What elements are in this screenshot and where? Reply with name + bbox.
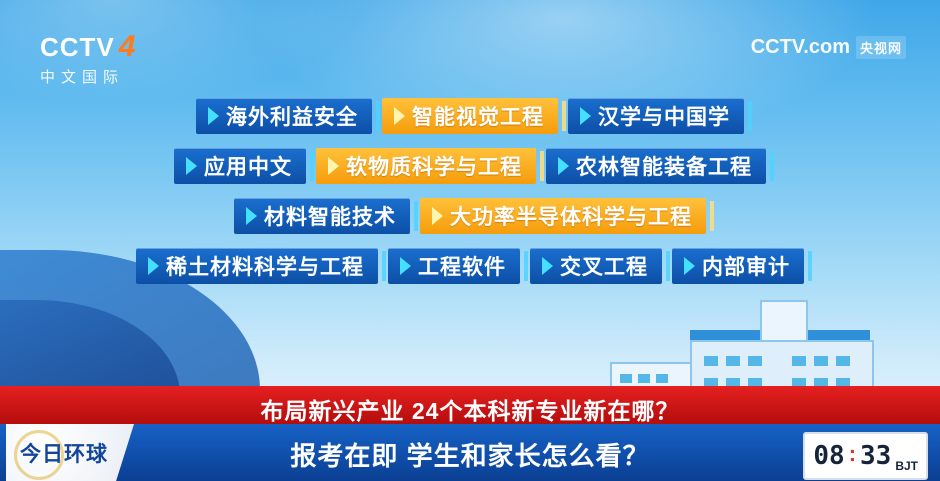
cctv-channel-number: 4	[119, 30, 137, 64]
clock-hours: 08	[813, 441, 844, 471]
major-chip: 内部审计	[672, 248, 804, 284]
headline-bar-top: 布局新兴产业 24个本科新专业新在哪？	[0, 386, 940, 424]
cctv4-logo: CCTV 4 中文国际	[40, 30, 136, 87]
cctv-logo-subtitle: 中文国际	[40, 66, 136, 87]
major-chip: 材料智能技术	[234, 198, 410, 234]
major-chip: 智能视觉工程	[382, 98, 558, 134]
headline-bottom-text: 报考在即 学生和家长怎么看？	[0, 436, 940, 473]
chevron-right-icon	[558, 157, 569, 175]
major-chip: 汉学与中国学	[568, 98, 744, 134]
cctv-com-text: CCTV.com	[751, 36, 850, 59]
chevron-right-icon	[432, 207, 443, 225]
clock-timezone: BJT	[895, 459, 918, 473]
major-chip: 交叉工程	[530, 248, 662, 284]
chevron-right-icon	[580, 107, 591, 125]
major-chip-label: 内部审计	[702, 257, 790, 278]
major-chip-label: 农林智能装备工程	[576, 157, 752, 178]
majors-row: 材料智能技术 大功率半导体科学与工程	[0, 198, 940, 234]
chevron-right-icon	[208, 107, 219, 125]
major-chip-label: 材料智能技术	[264, 207, 396, 228]
chevron-right-icon	[400, 257, 411, 275]
major-chip: 应用中文	[174, 148, 306, 184]
headline-top-text: 布局新兴产业 24个本科新专业新在哪？	[0, 392, 940, 426]
major-chip-label: 软物质科学与工程	[346, 157, 522, 178]
major-chip-label: 汉学与中国学	[598, 107, 730, 128]
chevron-right-icon	[246, 207, 257, 225]
majors-chip-grid: 海外利益安全 智能视觉工程 汉学与中国学 应用中文 软物质科学与工程	[0, 98, 940, 298]
chevron-right-icon	[328, 157, 339, 175]
major-chip-label: 稀土材料科学与工程	[166, 257, 364, 278]
major-chip: 稀土材料科学与工程	[136, 248, 378, 284]
program-badge-label: 今日环球	[20, 438, 108, 468]
cctv-com-chinese: 央视网	[856, 36, 906, 59]
major-chip: 海外利益安全	[196, 98, 372, 134]
broadcast-screenshot: CCTV 4 中文国际 CCTV.com 央视网 海外利益安全 智能视觉工程 汉…	[0, 0, 940, 481]
chevron-right-icon	[394, 107, 405, 125]
majors-row: 应用中文 软物质科学与工程 农林智能装备工程	[0, 148, 940, 184]
major-chip-label: 交叉工程	[560, 257, 648, 278]
major-chip: 工程软件	[388, 248, 520, 284]
major-chip-label: 工程软件	[418, 257, 506, 278]
program-badge: 今日环球	[6, 424, 134, 481]
cctv-logo-text: CCTV	[40, 32, 115, 63]
majors-row: 稀土材料科学与工程 工程软件 交叉工程 内部审计	[0, 248, 940, 284]
clock-minutes: 33	[860, 441, 891, 471]
major-chip: 农林智能装备工程	[546, 148, 766, 184]
major-chip-label: 海外利益安全	[226, 107, 358, 128]
major-chip-label: 大功率半导体科学与工程	[450, 207, 692, 228]
chevron-right-icon	[542, 257, 553, 275]
headline-bar-bottom: 报考在即 学生和家长怎么看？	[0, 424, 940, 481]
major-chip: 软物质科学与工程	[316, 148, 536, 184]
cctv-com-watermark: CCTV.com 央视网	[751, 36, 906, 59]
chevron-right-icon	[148, 257, 159, 275]
major-chip-label: 智能视觉工程	[412, 107, 544, 128]
majors-row: 海外利益安全 智能视觉工程 汉学与中国学	[0, 98, 940, 134]
chevron-right-icon	[186, 157, 197, 175]
chevron-right-icon	[684, 257, 695, 275]
major-chip-label: 应用中文	[204, 157, 292, 178]
clock-widget: 08 : 33 BJT	[803, 432, 928, 480]
major-chip: 大功率半导体科学与工程	[420, 198, 706, 234]
clock-separator: :	[849, 441, 856, 467]
